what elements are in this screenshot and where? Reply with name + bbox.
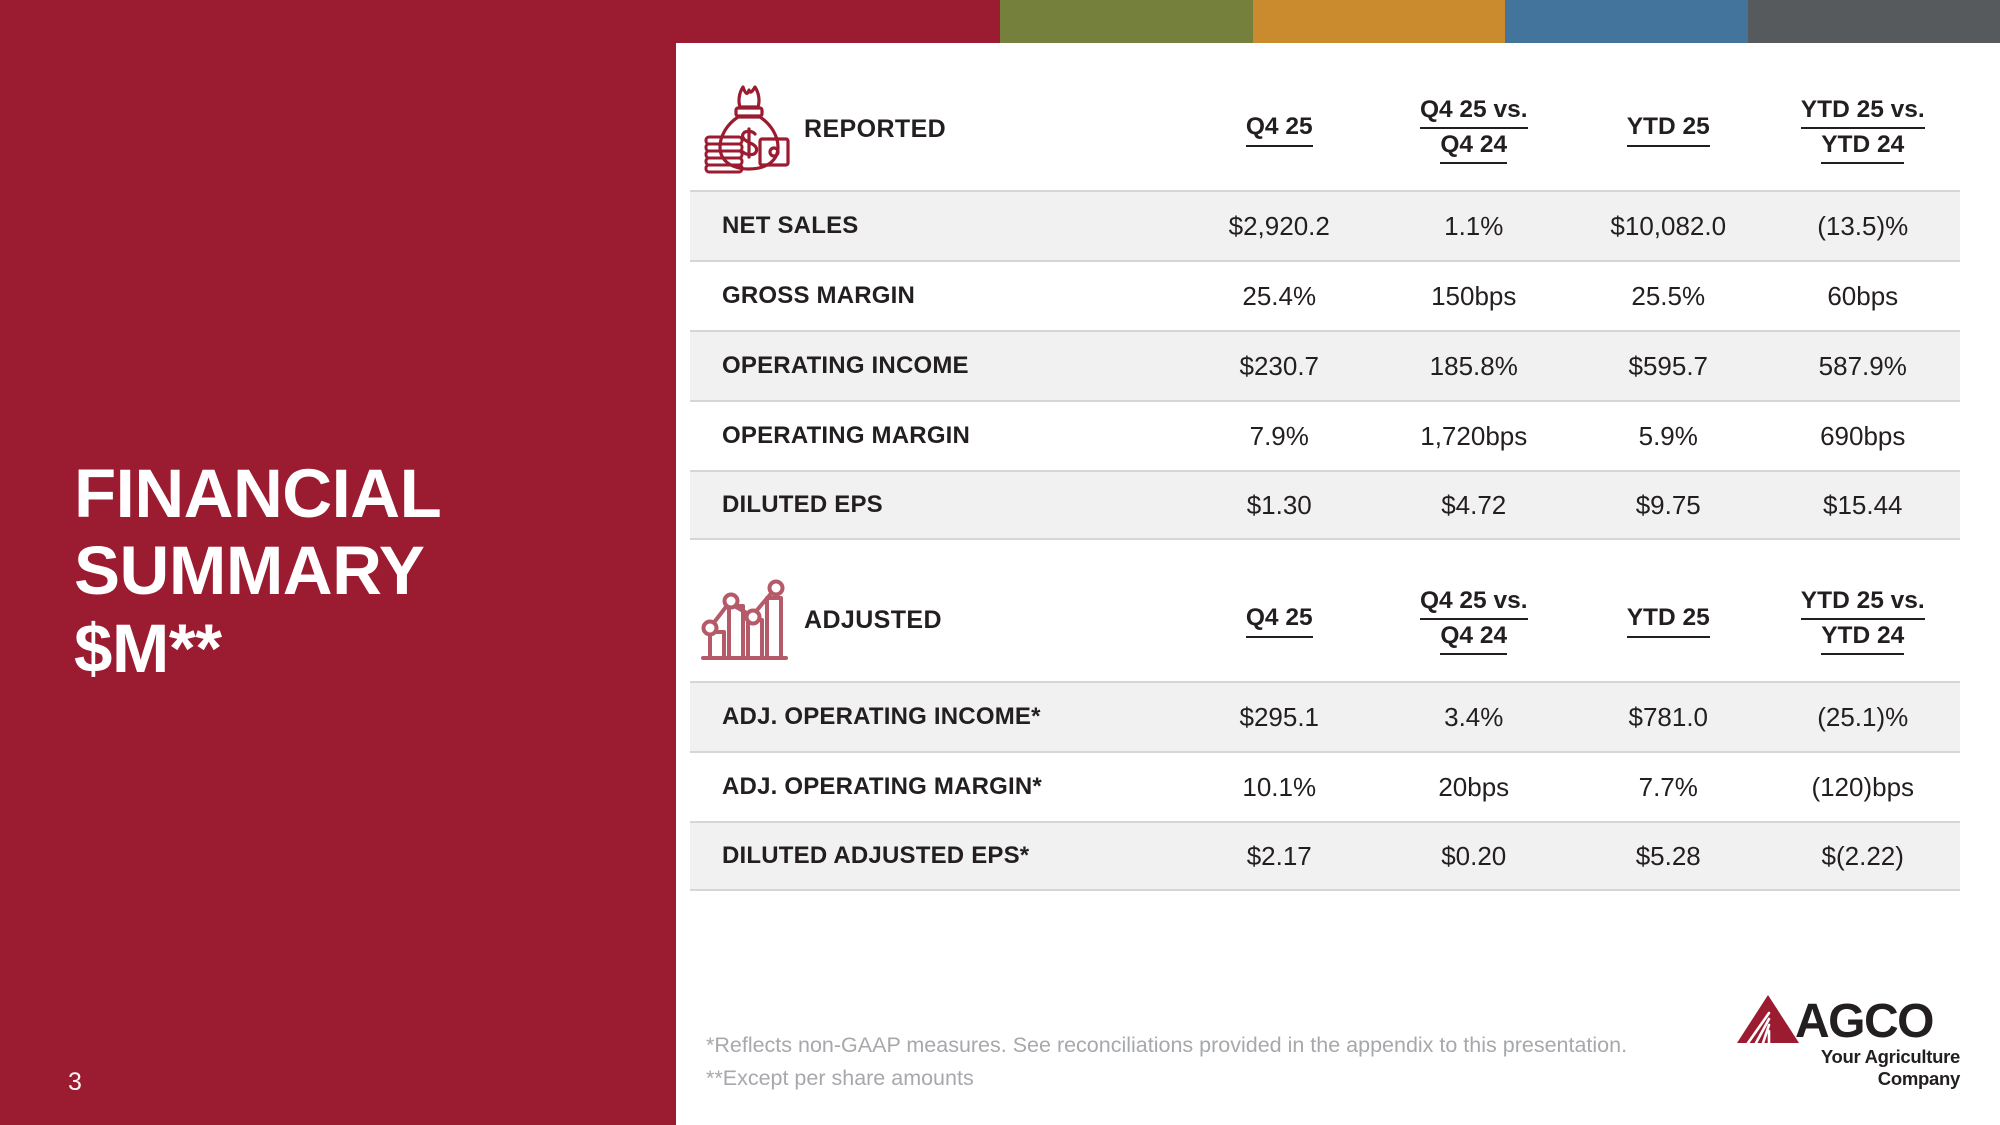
row-value: 10.1% <box>1182 772 1377 803</box>
content-area: REPORTED Q4 25 Q4 25 vs. Q4 24 YTD 25 YT… <box>676 43 2000 1125</box>
reported-table: REPORTED Q4 25 Q4 25 vs. Q4 24 YTD 25 YT… <box>690 68 1960 540</box>
reported-col2-line2: Q4 24 <box>1440 129 1507 164</box>
adjusted-col4-line1: YTD 25 vs. <box>1801 585 1925 620</box>
adjusted-header-label: ADJUSTED <box>804 606 942 635</box>
row-value: $230.7 <box>1182 351 1377 382</box>
row-value: 5.9% <box>1571 421 1766 452</box>
money-bag-icon <box>698 79 790 179</box>
row-value: $295.1 <box>1182 702 1377 733</box>
adjusted-table-header: ADJUSTED Q4 25 Q4 25 vs. Q4 24 YTD 25 YT… <box>690 559 1960 681</box>
row-label: ADJ. OPERATING MARGIN* <box>690 773 1182 801</box>
row-label: GROSS MARGIN <box>690 282 1182 310</box>
row-value: $5.28 <box>1571 841 1766 872</box>
adjusted-header-label-cell: ADJUSTED <box>690 570 1182 670</box>
adjusted-column-header-1: Q4 25 <box>1182 602 1377 637</box>
table-row: OPERATING MARGIN 7.9% 1,720bps 5.9% 690b… <box>690 400 1960 470</box>
row-value: 587.9% <box>1766 351 1961 382</box>
agco-triangle-mark <box>1735 993 1801 1045</box>
agco-logo: AGCO Your Agriculture Company <box>1735 991 1960 1067</box>
row-value: $4.72 <box>1377 490 1572 521</box>
row-value: (120)bps <box>1766 772 1961 803</box>
row-value: 7.7% <box>1571 772 1766 803</box>
row-label: NET SALES <box>690 212 1182 240</box>
adjusted-col2-line1: Q4 25 vs. <box>1420 585 1528 620</box>
color-bar-segment-orange <box>1253 0 1505 43</box>
adjusted-column-header-2: Q4 25 vs. Q4 24 <box>1377 585 1572 656</box>
row-value: 1.1% <box>1377 211 1572 242</box>
row-value: 185.8% <box>1377 351 1572 382</box>
page-title-line-1: FINANCIAL <box>74 455 634 532</box>
row-value: $0.20 <box>1377 841 1572 872</box>
adjusted-col2-line2: Q4 24 <box>1440 620 1507 655</box>
row-value: $595.7 <box>1571 351 1766 382</box>
row-label: OPERATING MARGIN <box>690 422 1182 450</box>
table-row: ADJ. OPERATING INCOME* $295.1 3.4% $781.… <box>690 681 1960 751</box>
color-bar-segment-green <box>1000 0 1253 43</box>
row-value: 7.9% <box>1182 421 1377 452</box>
adjusted-col1-line1: Q4 25 <box>1246 602 1313 637</box>
row-value: (25.1)% <box>1766 702 1961 733</box>
row-value: (13.5)% <box>1766 211 1961 242</box>
row-value: $10,082.0 <box>1571 211 1766 242</box>
row-value: 25.5% <box>1571 281 1766 312</box>
adjusted-column-header-3: YTD 25 <box>1571 602 1766 637</box>
adjusted-table: ADJUSTED Q4 25 Q4 25 vs. Q4 24 YTD 25 YT… <box>690 559 1960 891</box>
footnote-line-2: **Except per share amounts <box>706 1062 1627 1095</box>
bar-chart-line-icon <box>698 570 790 670</box>
row-value: $(2.22) <box>1766 841 1961 872</box>
agco-tagline: Your Agriculture Company <box>1735 1046 1960 1090</box>
row-label: ADJ. OPERATING INCOME* <box>690 703 1182 731</box>
row-value: $1.30 <box>1182 490 1377 521</box>
row-label: DILUTED EPS <box>690 491 1182 519</box>
page-title: FINANCIAL SUMMARY $M** <box>74 455 634 687</box>
row-value: 690bps <box>1766 421 1961 452</box>
color-bar-segment-blue <box>1505 0 1748 43</box>
row-value: $781.0 <box>1571 702 1766 733</box>
row-value: $9.75 <box>1571 490 1766 521</box>
reported-col4-line1: YTD 25 vs. <box>1801 94 1925 129</box>
reported-column-header-4: YTD 25 vs. YTD 24 <box>1766 94 1961 165</box>
reported-header-label-cell: REPORTED <box>690 79 1182 179</box>
reported-col2-line1: Q4 25 vs. <box>1420 94 1528 129</box>
row-value: $2,920.2 <box>1182 211 1377 242</box>
row-value: 150bps <box>1377 281 1572 312</box>
reported-col3-line1: YTD 25 <box>1627 111 1710 146</box>
page-number: 3 <box>68 1068 82 1097</box>
row-value: 1,720bps <box>1377 421 1572 452</box>
agco-wordmark: AGCO <box>1795 999 1933 1045</box>
adjusted-col3-line1: YTD 25 <box>1627 602 1710 637</box>
row-value: 25.4% <box>1182 281 1377 312</box>
row-value: 60bps <box>1766 281 1961 312</box>
reported-header-label: REPORTED <box>804 115 946 144</box>
slide-financial-summary: FINANCIAL SUMMARY $M** 3 <box>0 0 2000 1125</box>
left-title-panel: FINANCIAL SUMMARY $M** 3 <box>0 0 676 1125</box>
row-value: $2.17 <box>1182 841 1377 872</box>
reported-col1-line1: Q4 25 <box>1246 111 1313 146</box>
reported-col4-line2: YTD 24 <box>1821 129 1904 164</box>
row-value: 20bps <box>1377 772 1572 803</box>
row-label: OPERATING INCOME <box>690 352 1182 380</box>
adjusted-column-header-4: YTD 25 vs. YTD 24 <box>1766 585 1961 656</box>
table-row: ADJ. OPERATING MARGIN* 10.1% 20bps 7.7% … <box>690 751 1960 821</box>
row-value: 3.4% <box>1377 702 1572 733</box>
table-row: GROSS MARGIN 25.4% 150bps 25.5% 60bps <box>690 260 1960 330</box>
reported-column-header-1: Q4 25 <box>1182 111 1377 146</box>
row-label: DILUTED ADJUSTED EPS* <box>690 842 1182 870</box>
reported-column-header-2: Q4 25 vs. Q4 24 <box>1377 94 1572 165</box>
table-row: OPERATING INCOME $230.7 185.8% $595.7 58… <box>690 330 1960 400</box>
page-title-line-2: SUMMARY <box>74 532 634 609</box>
table-row: DILUTED EPS $1.30 $4.72 $9.75 $15.44 <box>690 470 1960 540</box>
table-row: NET SALES $2,920.2 1.1% $10,082.0 (13.5)… <box>690 190 1960 260</box>
reported-column-header-3: YTD 25 <box>1571 111 1766 146</box>
color-bar-segment-gray <box>1748 0 2000 43</box>
table-row: DILUTED ADJUSTED EPS* $2.17 $0.20 $5.28 … <box>690 821 1960 891</box>
row-value: $15.44 <box>1766 490 1961 521</box>
reported-table-header: REPORTED Q4 25 Q4 25 vs. Q4 24 YTD 25 YT… <box>690 68 1960 190</box>
footnotes: *Reflects non-GAAP measures. See reconci… <box>706 1029 1627 1096</box>
agco-logo-top: AGCO <box>1735 991 1960 1045</box>
page-title-line-3: $M** <box>74 610 634 687</box>
footnote-line-1: *Reflects non-GAAP measures. See reconci… <box>706 1029 1627 1062</box>
adjusted-col4-line2: YTD 24 <box>1821 620 1904 655</box>
